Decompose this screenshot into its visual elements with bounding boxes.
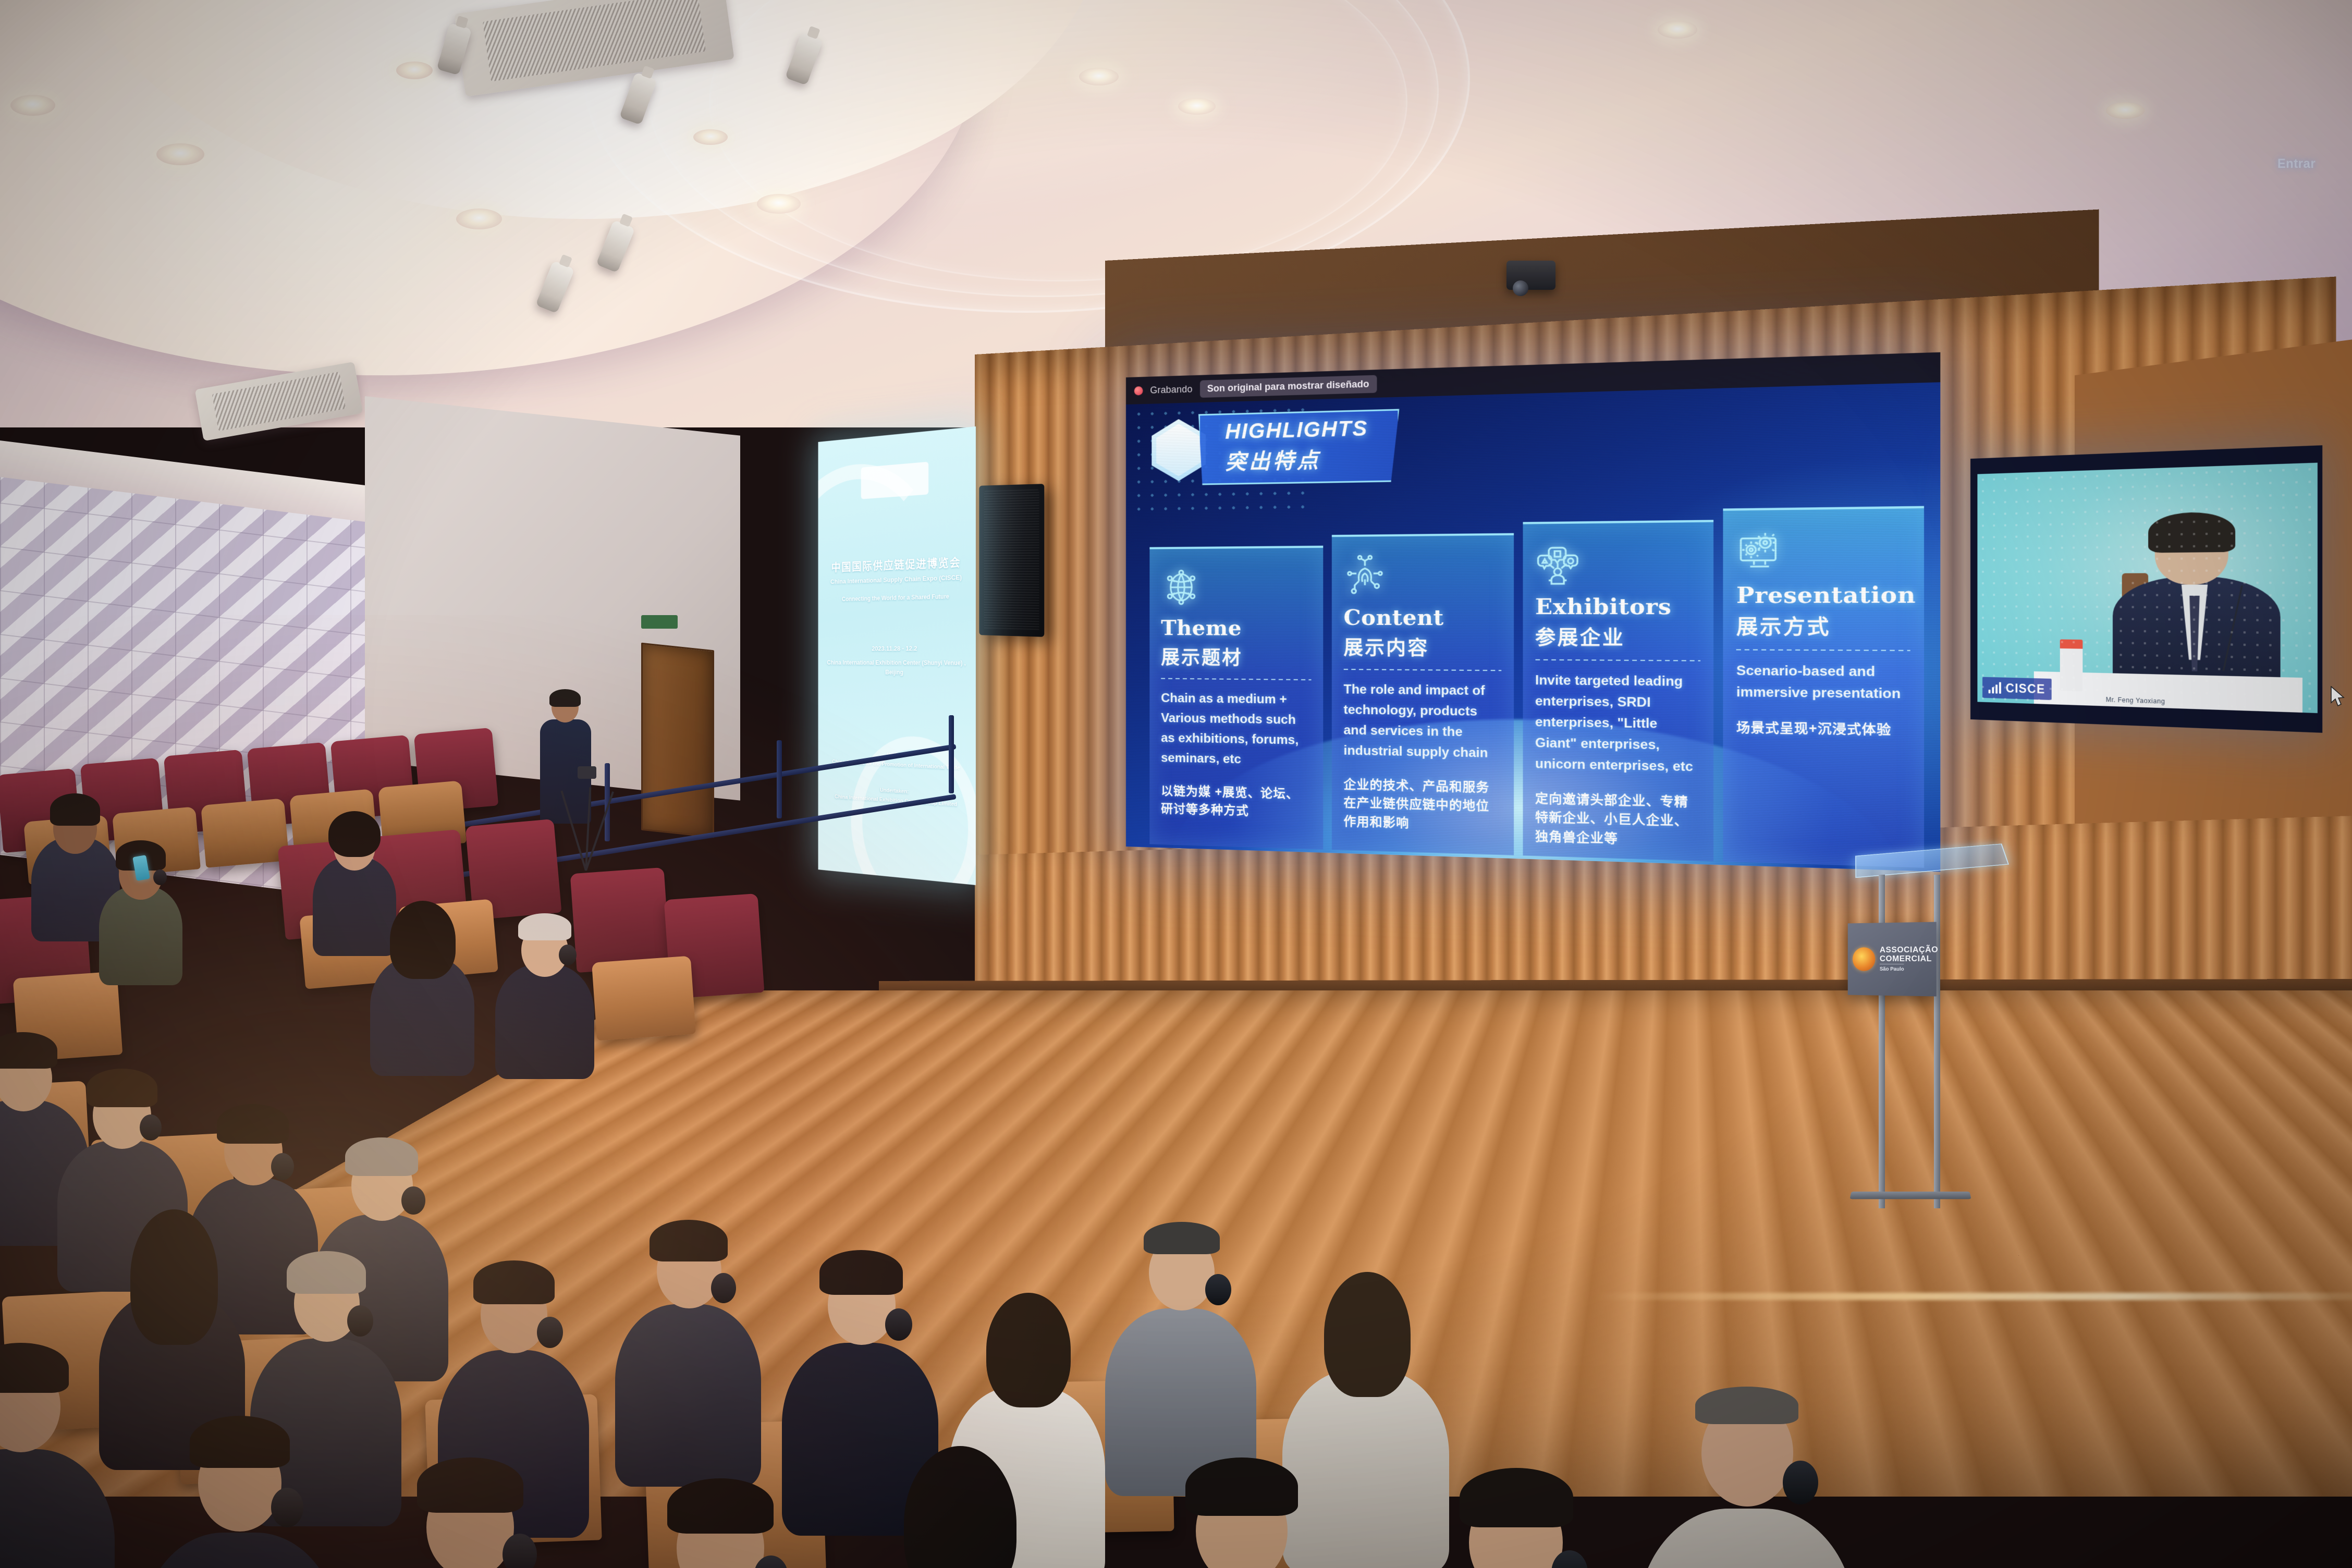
person-hair [287, 1251, 366, 1294]
audience-member [495, 912, 594, 1058]
slide-column-presentation: Presentation 展示方式 Scenario-based and imm… [1723, 506, 1924, 868]
headset-icon [153, 869, 167, 885]
headset-icon [559, 945, 577, 965]
person-hair [473, 1260, 555, 1304]
downlight-icon [1658, 21, 1697, 39]
person-body [0, 1449, 115, 1568]
audience-member [1131, 1460, 1350, 1568]
column-title-zh: 展示方式 [1736, 611, 1910, 641]
acsp-seal-icon [1853, 947, 1875, 971]
person-hair [87, 1069, 157, 1107]
person-body [495, 964, 594, 1079]
column-title-en: Exhibitors [1535, 595, 1700, 619]
podium-base [1849, 1192, 1971, 1199]
audience-member [141, 1418, 339, 1568]
person-body [141, 1533, 339, 1568]
headset-icon [1783, 1461, 1818, 1504]
video-conference-panel: Mr. Feng Yaoxiang CISCE [1970, 445, 2322, 733]
monitor-gears-icon [1736, 529, 1783, 573]
person-hair [650, 1220, 728, 1261]
downlight-icon [10, 95, 55, 116]
headset-icon [537, 1317, 563, 1348]
headset-icon [711, 1273, 736, 1303]
ac-vent-icon [195, 362, 363, 441]
person-hair [986, 1293, 1071, 1407]
person-hair [819, 1250, 903, 1295]
audience-member [370, 902, 474, 1053]
column-divider [1535, 659, 1700, 661]
headset-icon [140, 1114, 162, 1141]
speaker-podium: ASSOCIAÇÃO COMERCIAL São Paulo [1835, 844, 2007, 1209]
fingerprint-circuit-icon [1343, 555, 1386, 597]
downlight-icon [396, 62, 433, 79]
globe-network-icon [1161, 567, 1202, 608]
acsp-line-3: São Paulo [1880, 964, 1904, 972]
downlight-icon [156, 143, 204, 165]
headset-icon [885, 1308, 912, 1341]
downlight-icon [1079, 68, 1119, 85]
banner-tick-marks [1454, 413, 1538, 424]
person-hair [417, 1457, 523, 1513]
person-hair [190, 1416, 290, 1468]
downlight-icon [757, 194, 801, 214]
cisce-broadcast-badge: CISCE [1982, 677, 2051, 700]
downlight-icon [456, 209, 502, 229]
podium-organization-sign: ASSOCIAÇÃO COMERCIAL São Paulo [1848, 922, 1937, 997]
acsp-line-2: COMERCIAL [1880, 954, 1932, 963]
audience-member [615, 1220, 761, 1444]
person-hair [0, 1343, 69, 1393]
person-hair [1144, 1222, 1220, 1254]
column-title-en: Content [1343, 607, 1501, 630]
headset-icon [271, 1488, 303, 1527]
exit-sign [641, 615, 678, 629]
microphone-icon [2223, 585, 2243, 671]
headset-icon [347, 1305, 373, 1337]
person-hair [1460, 1468, 1573, 1527]
podium-glass-top [1855, 843, 2009, 878]
person-hair [1185, 1457, 1298, 1516]
audience-member [0, 1345, 115, 1568]
audience-member [855, 1449, 1063, 1568]
recording-status-label: Grabando [1150, 384, 1192, 396]
loudspeaker-icon [979, 484, 1044, 637]
person-body [99, 886, 182, 985]
person-body [615, 1304, 761, 1487]
audience-member [1637, 1381, 1856, 1568]
audience-member [1105, 1220, 1256, 1454]
highlights-banner: HIGHLIGHTS 突出特点 [1198, 409, 1399, 485]
ceiling-camera-icon [1506, 261, 1555, 290]
downlight-icon [1178, 98, 1216, 115]
speaker-head [2154, 520, 2228, 585]
entrar-button[interactable]: Entrar [2277, 156, 2316, 171]
expo-title-zh: 中国国际供应链促进博览会 [826, 553, 967, 575]
column-title-en: Presentation [1736, 583, 1910, 608]
column-divider [1343, 669, 1501, 671]
column-body-zh: 场景式呈现+沉浸式体验 [1736, 718, 1910, 740]
hexagon-badge-icon [1151, 419, 1206, 482]
person-hair [217, 1104, 289, 1144]
water-bottle [2060, 639, 2082, 691]
expo-date: 2023.11.28 - 12.2 [826, 644, 967, 652]
chair [2122, 573, 2148, 663]
signal-bars-icon [1989, 682, 2001, 694]
mouse-cursor-icon [2330, 686, 2346, 708]
acsp-line-1: ASSOCIAÇÃO [1880, 945, 1938, 954]
headset-icon [401, 1186, 425, 1215]
audience-member [615, 1480, 824, 1568]
headset-icon [1205, 1274, 1231, 1305]
seat [201, 798, 289, 867]
column-title-zh: 展示题材 [1161, 642, 1311, 670]
floor-led-strip [1595, 1293, 2352, 1300]
person-hair [130, 1209, 218, 1345]
speaker-tie [2186, 596, 2203, 671]
column-divider [1161, 678, 1311, 681]
acsp-text-block: ASSOCIAÇÃO COMERCIAL São Paulo [1880, 945, 1938, 973]
seat [592, 956, 696, 1041]
headset-icon [271, 1153, 294, 1180]
auditorium-scene: 中国国际供应链促进博览会 China International Supply … [0, 0, 2352, 1568]
column-title-zh: 参展企业 [1535, 622, 1700, 651]
conference-table [2034, 671, 2302, 713]
column-divider [1736, 649, 1910, 651]
headset-icon [503, 1534, 537, 1568]
speaker-video-feed: Mr. Feng Yaoxiang CISCE [1977, 463, 2317, 713]
speaker-shirt [2171, 584, 2218, 660]
remote-speaker [2112, 519, 2280, 712]
person-hair [0, 1032, 57, 1069]
operator-hair [549, 689, 581, 707]
person-hair [390, 901, 456, 979]
person-hair [667, 1478, 774, 1534]
speaker-nameplate: Mr. Feng Yaoxiang [2106, 696, 2165, 705]
shared-window-chip: Son original para mostrar diseñado [1200, 375, 1377, 398]
expo-venue: China International Exhibition Center (S… [826, 658, 967, 678]
people-bubbles-icon [1535, 542, 1580, 585]
recording-dot-icon [1134, 386, 1143, 396]
speaker-torso [2112, 577, 2280, 712]
column-title-zh: 展示内容 [1343, 632, 1501, 661]
person-hair [518, 913, 571, 940]
person-hair [1324, 1272, 1411, 1397]
person-hair [328, 811, 381, 857]
expo-title-en: China International Supply Chain Expo (C… [826, 573, 967, 586]
column-body-en: Scenario-based and immersive presentatio… [1736, 660, 1910, 705]
audience-member [365, 1460, 573, 1568]
audience-member [1402, 1470, 1626, 1568]
cisce-label: CISCE [2006, 681, 2045, 696]
person-body [1637, 1509, 1856, 1568]
column-title-en: Theme [1161, 617, 1311, 640]
audience-seating [0, 740, 1637, 1568]
person-hair [345, 1137, 418, 1176]
downlight-icon [693, 129, 728, 145]
slide-header: HIGHLIGHTS 突出特点 [1151, 409, 1399, 486]
expo-tagline: Connecting the World for a Shared Future [826, 592, 967, 603]
cisce-logo-mark [861, 462, 929, 499]
person-hair [1695, 1387, 1798, 1424]
audience-member [99, 1209, 245, 1434]
person-hair [50, 793, 100, 826]
downlight-icon [2106, 102, 2145, 119]
slide-title-zh: 突出特点 [1225, 442, 1368, 476]
speaker-hair [2148, 512, 2235, 553]
person-hair [904, 1446, 1016, 1568]
slide-title-en: HIGHLIGHTS [1225, 416, 1368, 444]
